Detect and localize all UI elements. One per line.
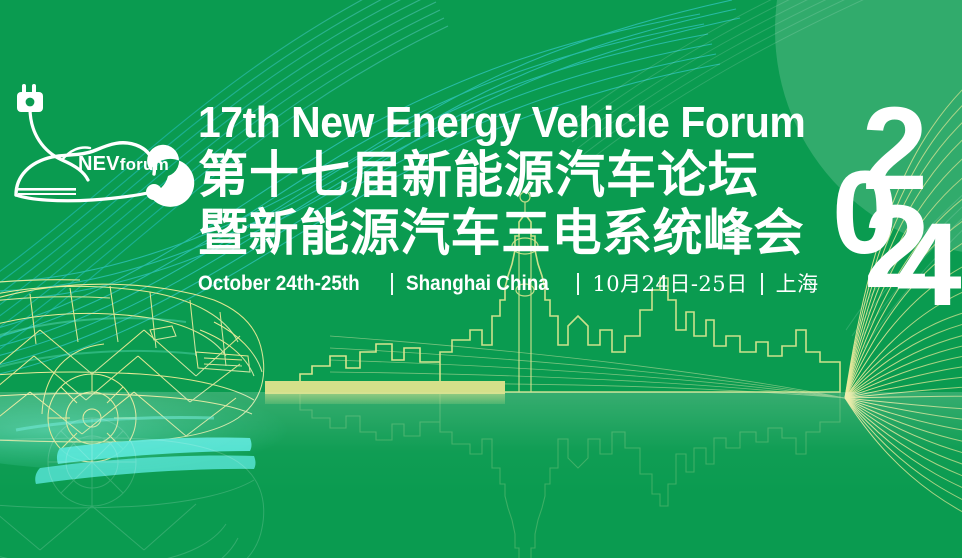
meta-separator-2 xyxy=(577,273,579,295)
english-title: 17th New Energy Vehicle Forum xyxy=(198,100,793,146)
year-digit-4: 4 xyxy=(896,206,956,324)
meta-date-en: October 24th-25th xyxy=(198,271,360,297)
accent-bar-reflection xyxy=(265,394,505,404)
meta-separator-3 xyxy=(761,273,763,295)
meta-separator-1 xyxy=(391,273,393,295)
meta-date-cn: 10月24日-25日 xyxy=(592,271,747,297)
nevforum-logo[interactable]: NEVforum xyxy=(8,72,188,217)
meta-location-cn: 上海 xyxy=(776,271,819,297)
chinese-title-line-1: 第十七届新能源汽车论坛 xyxy=(198,146,838,204)
headline-block: 17th New Energy Vehicle Forum 第十七届新能源汽车论… xyxy=(198,100,838,297)
logo-word-forum: forum xyxy=(120,155,169,174)
event-meta: October 24th-25th Shanghai China 10月24日-… xyxy=(198,271,838,297)
logo-word-nev: NEV xyxy=(78,153,120,175)
meta-location-en: Shanghai China xyxy=(406,271,549,297)
logo-wordmark: NEVforum xyxy=(78,154,169,174)
poster-canvas: NEVforum 17th New Energy Vehicle Forum 第… xyxy=(0,0,962,558)
year-badge: 2 0 2 4 xyxy=(846,102,958,314)
chinese-title-line-2: 暨新能源汽车三电系统峰会 xyxy=(198,204,838,262)
accent-bar xyxy=(265,381,505,394)
